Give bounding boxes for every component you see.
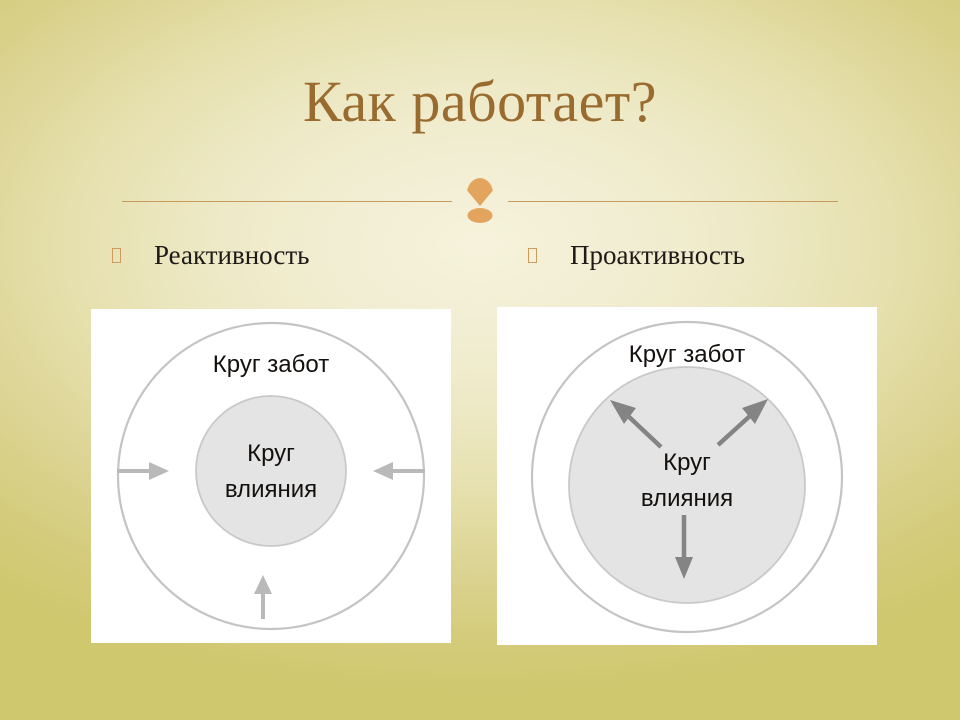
inner-circle-label-line2: влияния <box>225 476 317 503</box>
divider-rule-left <box>122 201 452 202</box>
page-title: Как работает? <box>0 72 960 133</box>
inner-circle-label-line1: Круг <box>663 449 711 476</box>
inner-circle-label-line2: влияния <box>641 485 733 512</box>
divider-rule-right <box>508 201 838 202</box>
diagram-proactivity: Круг забот Круг влияния <box>497 307 877 645</box>
bullet-label-proactivity: Проактивность <box>570 242 745 269</box>
outer-circle-label: Круг забот <box>629 341 745 368</box>
ornament-dot <box>468 208 493 223</box>
diagram-reactivity: Круг забот Круг влияния <box>91 309 451 643</box>
bullet-item-proactivity: Проактивность <box>528 242 745 269</box>
exclamation-ornament-icon <box>460 186 500 220</box>
title-divider <box>122 186 838 220</box>
bullet-glyph-icon <box>528 248 537 263</box>
bullet-glyph-icon <box>112 248 121 263</box>
bullet-item-reactivity: Реактивность <box>112 242 309 269</box>
inner-circle-label-line1: Круг <box>247 440 295 467</box>
ornament-teardrop <box>467 178 494 206</box>
outer-circle-label: Круг забот <box>213 351 329 378</box>
bullet-label-reactivity: Реактивность <box>154 242 309 269</box>
slide-canvas: Как работает? Реактивность Проактивность… <box>0 0 960 720</box>
inner-circle-influence <box>196 396 346 546</box>
